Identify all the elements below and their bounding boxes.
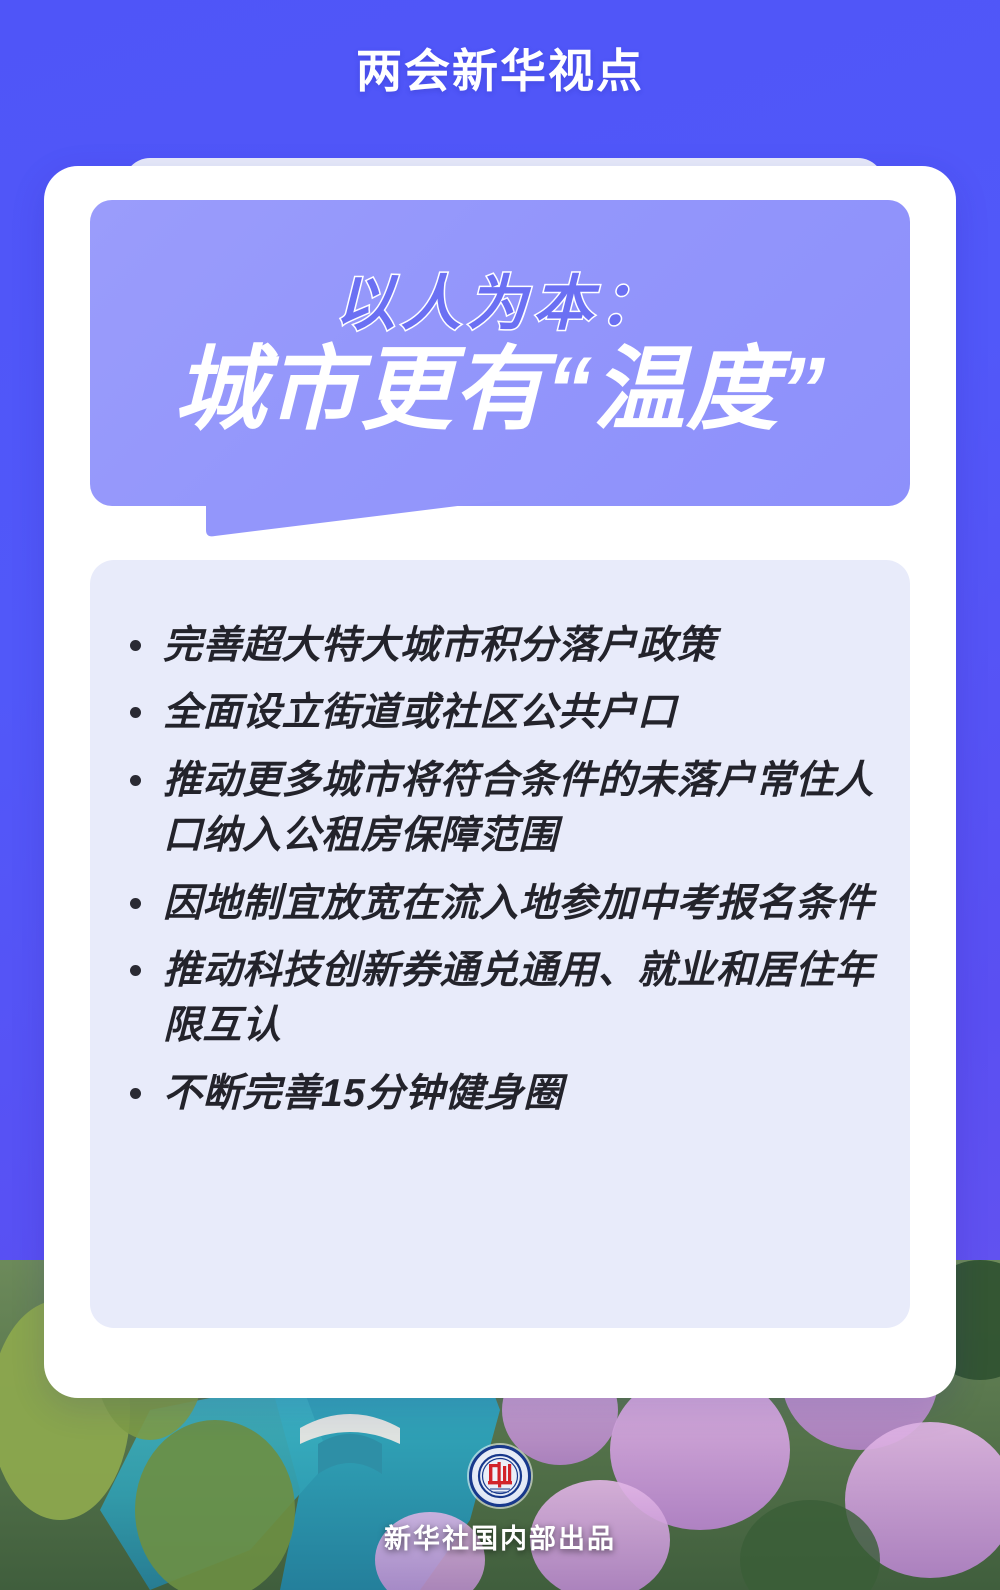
bullet-dot-icon [130, 707, 141, 718]
list-item: 推动更多城市将符合条件的未落户常住人口纳入公租房保障范围 [124, 753, 876, 864]
bullet-list-card: 完善超大特大城市积分落户政策 全面设立街道或社区公共户口 推动更多城市将符合条件… [90, 560, 910, 1328]
list-item: 因地制宜放宽在流入地参加中考报名条件 [124, 876, 876, 931]
footer-caption: 新华社国内部出品 [384, 1517, 616, 1556]
list-item-label: 因地制宜放宽在流入地参加中考报名条件 [163, 876, 874, 931]
title-line-secondary: 城市更有“温度” [174, 341, 826, 440]
list-item-label: 全面设立街道或社区公共户口 [163, 685, 677, 740]
list-item: 不断完善15分钟健身圈 [124, 1066, 876, 1121]
title-line-primary: 以人为本： [335, 272, 665, 337]
list-item: 推动科技创新券通兑通用、就业和居住年限互认 [124, 943, 876, 1054]
list-item: 全面设立街道或社区公共户口 [124, 685, 876, 740]
list-item-label: 不断完善15分钟健身圈 [163, 1066, 563, 1121]
policy-bullet-list: 完善超大特大城市积分落户政策 全面设立街道或社区公共户口 推动更多城市将符合条件… [124, 618, 876, 1121]
list-item: 完善超大特大城市积分落户政策 [124, 618, 876, 673]
poster-root: 两会新华视点 以人为本： 城市更有“温度” 完善超大特大城市积分落户政策 全面设… [0, 0, 1000, 1590]
bullet-dot-icon [130, 898, 141, 909]
bullet-dot-icon [130, 640, 141, 651]
header: 两会新华视点 [0, 0, 1000, 135]
title-bubble: 以人为本： 城市更有“温度” [90, 200, 910, 506]
list-item-label: 完善超大特大城市积分落户政策 [163, 618, 716, 673]
page-title: 两会新华视点 [356, 35, 644, 101]
bullet-dot-icon [130, 1088, 141, 1099]
list-item-label: 推动更多城市将符合条件的未落户常住人口纳入公租房保障范围 [163, 753, 876, 864]
xinhua-news-agency-logo-icon [469, 1445, 531, 1507]
bullet-dot-icon [130, 775, 141, 786]
speech-bubble-tail [206, 500, 506, 542]
bullet-dot-icon [130, 965, 141, 976]
list-item-label: 推动科技创新券通兑通用、就业和居住年限互认 [163, 943, 876, 1054]
footer: 新华社国内部出品 [0, 1445, 1000, 1556]
